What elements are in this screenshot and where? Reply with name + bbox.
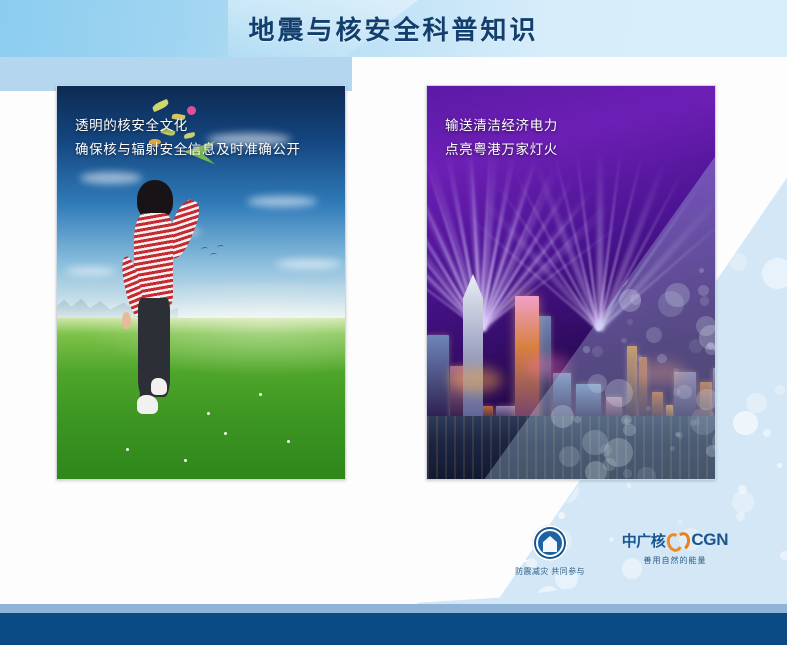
bubble-circle [774,67,782,75]
child-shoe [151,378,168,395]
cgn-tagline: 善用自然的能量 [612,555,738,566]
slide-canvas: 地震与核安全科普知识 [0,0,787,645]
cgn-chinese-text: 中广核 [622,530,666,551]
poster-caption-right: 输送清洁经济电力 点亮粤港万家灯火 [445,114,703,161]
cloud-shape [247,196,317,207]
poster-caption-left: 透明的核安全文化 确保核与辐射安全信息及时准确公开 [75,114,333,161]
page-title: 地震与核安全科普知识 [0,0,787,57]
poster-caption-line1: 输送清洁经济电力 [445,114,703,138]
grass-flower [224,432,227,435]
grass-highlight [57,283,345,385]
logo-earthquake-prevention[interactable]: 防震减灾 共同参与 [502,525,598,577]
cgn-latin-text: CGN [691,530,728,550]
poster-nuclear-safety-culture[interactable]: 透明的核安全文化 确保核与辐射安全信息及时准确公开 [56,85,346,480]
logo-row: 防震减灾 共同参与 中广核 CGN 善用自然的能量 [498,525,738,583]
child-shoe [137,395,158,414]
bank-of-china-tower [463,274,483,424]
logo-cgn[interactable]: 中广核 CGN 善用自然的能量 [612,529,738,566]
orange-swirl-icon [667,531,689,549]
city-skyline-group [427,251,715,424]
city-glow [525,355,571,377]
bottom-light-strip [0,604,787,613]
cgn-wordmark: 中广核 CGN [612,529,738,551]
grass-flower [259,393,262,396]
poster-caption-line2: 确保核与辐射安全信息及时准确公开 [75,138,333,162]
city-glow [450,367,502,393]
cloud-shape [276,259,342,269]
building-shape [627,346,638,424]
child-hand [122,312,131,329]
poster-caption-line1: 透明的核安全文化 [75,114,333,138]
poster-clean-power[interactable]: 输送清洁经济电力 点亮粤港万家灯火 [426,85,716,480]
harbour-reflections [427,416,715,479]
poster-caption-line2: 点亮粤港万家灯火 [445,138,703,162]
bubble-circle [455,73,462,80]
grass-flower [207,412,210,415]
grass-flower [126,448,129,451]
city-glow [634,361,686,385]
header-band: 地震与核安全科普知识 [0,0,787,57]
circular-seal-house-icon [532,525,568,561]
cloud-shape [66,267,116,275]
bottom-navy-bar [0,613,787,645]
building-shape [427,335,449,424]
child-figure [120,180,189,416]
logo-caption-earthquake: 防震减灾 共同参与 [502,566,598,577]
bubble-circle [390,70,412,92]
